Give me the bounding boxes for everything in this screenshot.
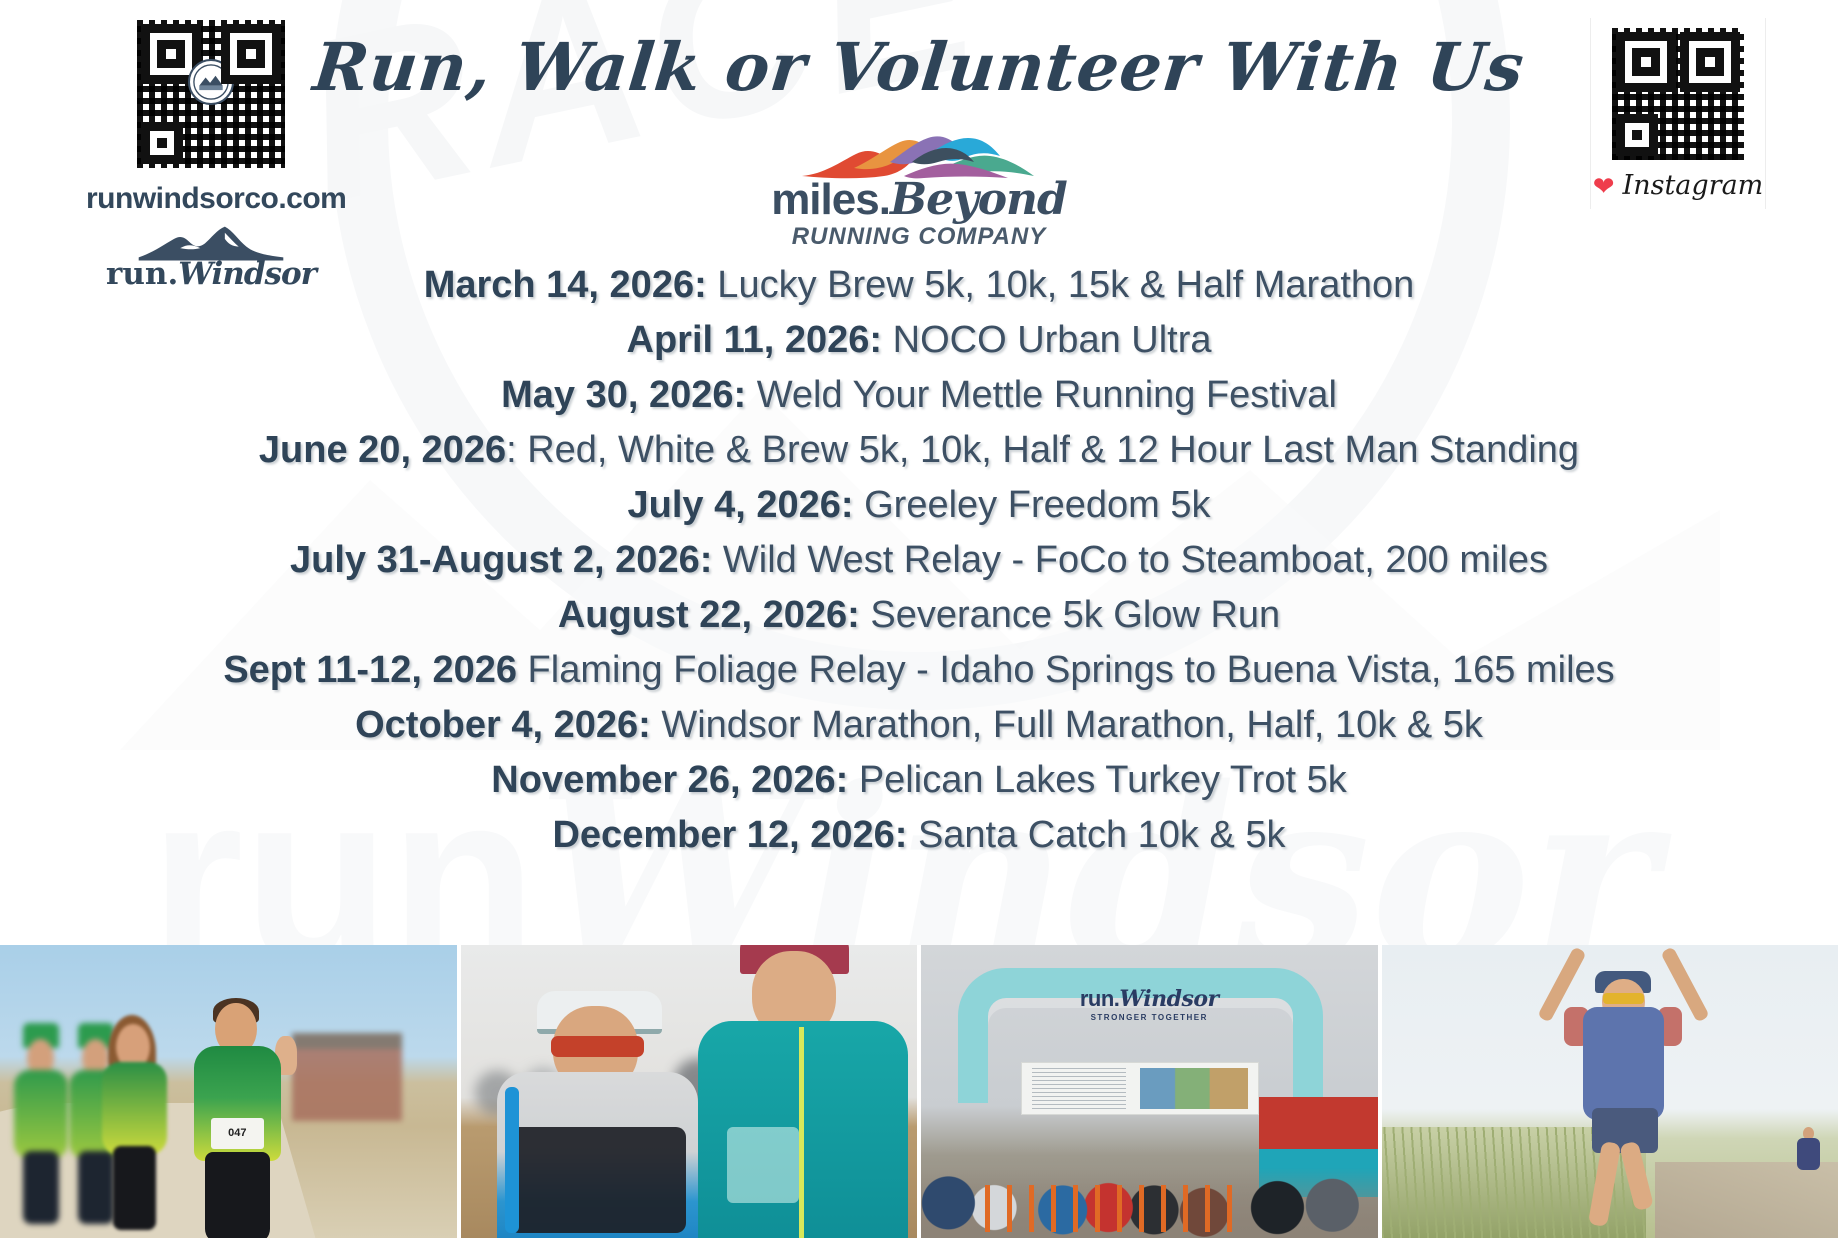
orange-fencing [985,1185,1241,1232]
website-url-label[interactable]: runwindsorco.com [86,182,336,216]
qr-finder-bottom-left [1616,114,1658,156]
jumping-runner-photo [1382,945,1838,1238]
event-date: May 30, 2026: [501,374,746,416]
event-date: July 4, 2026: [628,484,854,526]
arch-wordmark: run.Windsor [1080,986,1219,1012]
event-row: Sept 11-12, 2026 Flaming Foliage Relay -… [0,643,1838,698]
background-house [292,1033,402,1121]
event-flyer: RACE runWindsor runwindsorco.com [0,0,1838,1238]
event-description: Pelican Lakes Turkey Trot 5k [848,759,1346,801]
event-schedule-list: March 14, 2026: Lucky Brew 5k, 10k, 15k … [0,258,1838,863]
celebrating-runner [1546,951,1701,1232]
race-bib: 047 [211,1118,264,1149]
boy-runner-waving: 047 [183,998,293,1238]
banner-text-lines [1032,1068,1126,1109]
miles-beyond-wordmark: miles.Beyond [754,178,1084,222]
trail-runners-smiling-photo [461,945,918,1238]
event-row: June 20, 2026: Red, White & Brew 5k, 10k… [0,423,1838,478]
heart-icon: ❤ [1593,173,1615,199]
event-description: : Red, White & Brew 5k, 10k, Half & 12 H… [506,429,1579,471]
kids-fun-run-photo: 047 [0,945,457,1238]
banner-photo-collage [1140,1068,1248,1109]
event-date: August 22, 2026: [558,594,860,636]
event-date: April 11, 2026: [627,319,883,361]
event-row: July 4, 2026: Greeley Freedom 5k [0,478,1838,533]
brand-subtitle: RUNNING COMPANY [754,223,1084,251]
qr-code-icon[interactable] [1612,28,1744,160]
event-description: NOCO Urban Ultra [882,319,1211,361]
event-date: June 20, 2026 [259,429,506,471]
event-description: Weld Your Mettle Running Festival [746,374,1337,416]
arch-brand-script: Windsor [1119,986,1218,1012]
event-row: March 14, 2026: Lucky Brew 5k, 10k, 15k … [0,258,1838,313]
event-description: Santa Catch 10k & 5k [907,814,1285,856]
event-description: Wild West Relay - FoCo to Steamboat, 200… [712,539,1548,581]
event-row: December 12, 2026: Santa Catch 10k & 5k [0,808,1838,863]
start-arch-photo: run.Windsor STRONGER TOGETHER [921,945,1378,1238]
girl-runner [96,1015,174,1226]
event-row: April 11, 2026: NOCO Urban Ultra [0,313,1838,368]
arch-brand-prefix: run. [1080,986,1120,1011]
event-description: Greeley Freedom 5k [854,484,1211,526]
instagram-label[interactable]: Instagram [1623,170,1764,201]
distant-runner [1797,1127,1820,1191]
instagram-label-row[interactable]: ❤ Instagram [1599,170,1757,201]
event-row: July 31-August 2, 2026: Wild West Relay … [0,533,1838,588]
instagram-qr-block[interactable]: ❤ Instagram [1590,18,1766,209]
female-runner [698,945,908,1238]
event-description: Severance 5k Glow Run [860,594,1280,636]
event-row: October 4, 2026: Windsor Marathon, Full … [0,698,1838,753]
photo-strip: 047 run.Windsor STRONGER TOGETHER [0,945,1838,1238]
event-row: May 30, 2026: Weld Your Mettle Running F… [0,368,1838,423]
event-description: Windsor Marathon, Full Marathon, Half, 1… [651,704,1483,746]
event-description: Flaming Foliage Relay - Idaho Springs to… [517,649,1615,691]
event-date: December 12, 2026: [552,814,907,856]
flyer-header: runwindsorco.com run.Windsor Run, Walk o… [0,0,1838,250]
brand-word-script: Beyond [890,174,1067,225]
event-description: Lucky Brew 5k, 10k, 15k & Half Marathon [707,264,1415,306]
event-date: Sept 11-12, 2026 [223,649,517,691]
male-runner [497,986,698,1238]
event-row: August 22, 2026: Severance 5k Glow Run [0,588,1838,643]
miles-beyond-logo: miles.Beyond RUNNING COMPANY [754,132,1084,251]
arch-tagline: STRONGER TOGETHER [1080,1013,1219,1022]
brand-word-primary: miles. [771,175,890,224]
event-row: November 26, 2026: Pelican Lakes Turkey … [0,753,1838,808]
event-date: March 14, 2026: [424,264,707,306]
event-date: November 26, 2026: [491,759,848,801]
page-title: Run, Walk or Volunteer With Us [0,28,1838,106]
event-date: July 31-August 2, 2026: [290,539,712,581]
event-date: October 4, 2026: [355,704,651,746]
sponsor-banner [1021,1062,1258,1115]
arch-branding: run.Windsor STRONGER TOGETHER [1080,986,1219,1022]
qr-finder-bottom-left [141,122,183,164]
